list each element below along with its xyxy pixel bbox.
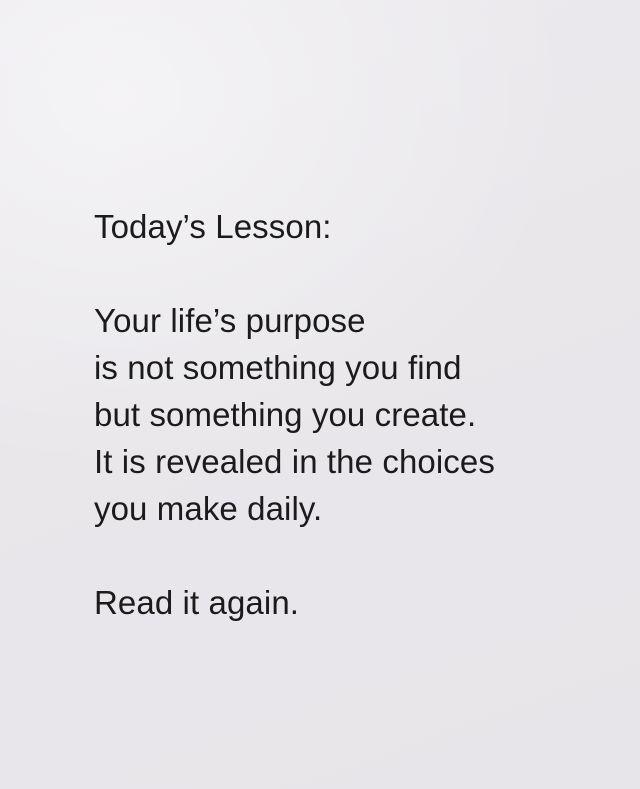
quote-body-line-5: you make daily. — [94, 485, 564, 532]
quote-card: Today’s Lesson: Your life’s purpose is n… — [0, 0, 640, 789]
paragraph-gap-2 — [94, 532, 564, 579]
quote-closing: Read it again. — [94, 579, 564, 626]
quote-body-line-1: Your life’s purpose — [94, 297, 564, 344]
quote-body-line-4: It is revealed in the choices — [94, 438, 564, 485]
quote-text-block: Today’s Lesson: Your life’s purpose is n… — [94, 203, 564, 626]
quote-heading: Today’s Lesson: — [94, 203, 564, 250]
quote-body-line-2: is not something you find — [94, 344, 564, 391]
quote-body-line-3: but something you create. — [94, 391, 564, 438]
paragraph-gap-1 — [94, 250, 564, 297]
